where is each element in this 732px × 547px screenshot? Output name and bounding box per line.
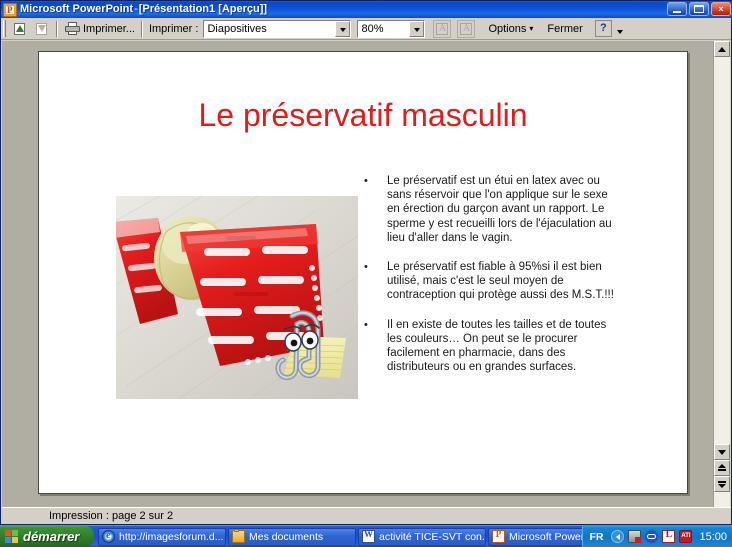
bullet-item: • Le préservatif est un étui en latex av… — [361, 174, 621, 245]
print-mode-combobox[interactable]: Diapositives — [203, 20, 351, 38]
previous-page-icon — [12, 21, 28, 37]
help-button[interactable] — [592, 19, 615, 39]
toolbar-separator-1 — [56, 21, 58, 37]
previous-page-scroll-button[interactable] — [714, 460, 730, 476]
status-bar: Impression : page 2 sur 2 — [2, 507, 731, 523]
window-controls: × — [667, 2, 731, 16]
double-chevron-down-icon — [718, 484, 726, 488]
status-text: Impression : page 2 sur 2 — [49, 510, 173, 522]
bullet-text: Il en existe de toutes les tailles et de… — [387, 318, 621, 375]
help-icon — [595, 20, 612, 37]
zoom-combobox[interactable]: 80% — [357, 20, 425, 38]
lavasoft-icon[interactable] — [662, 530, 675, 543]
bullet-marker: • — [361, 174, 387, 245]
minimize-button[interactable] — [667, 2, 687, 16]
taskbar-item-label: Microsoft PowerPoint ... — [509, 531, 582, 543]
zoom-in-button[interactable]: A — [430, 19, 454, 39]
close-preview-button[interactable]: Fermer — [542, 19, 585, 39]
word-document-icon — [362, 530, 375, 543]
bullet-item: • Le préservatif est fiable à 95%si il e… — [361, 260, 621, 303]
powerpoint-window: Microsoft PowerPoint - [Présentation1 [A… — [0, 0, 732, 525]
clock[interactable]: 15:00 — [699, 531, 727, 543]
vertical-scrollbar[interactable] — [713, 41, 730, 508]
chevron-down-icon[interactable] — [409, 21, 424, 37]
double-chevron-up-icon — [718, 464, 726, 468]
usb-device-icon[interactable] — [645, 530, 658, 543]
taskbar-item-label: activité TICE-SVT con... — [379, 531, 486, 543]
scroll-up-button[interactable] — [714, 41, 730, 57]
zoom-in-letter: A — [434, 22, 450, 36]
condom-photo-graphic — [116, 196, 358, 399]
print-mode-value: Diapositives — [204, 21, 335, 37]
start-button[interactable]: démarrer — [0, 526, 94, 547]
bullet-marker: • — [361, 318, 387, 375]
start-button-label: démarrer — [23, 529, 79, 544]
zoom-out-icon: A — [457, 20, 475, 38]
folder-icon — [232, 530, 245, 543]
window-app-title: Microsoft PowerPoint — [20, 1, 133, 18]
system-tray: FR 15:00 — [582, 526, 732, 547]
print-button[interactable]: Imprimer... — [61, 19, 138, 39]
zoom-in-icon: A — [433, 20, 451, 38]
zoom-out-button[interactable]: A — [454, 19, 478, 39]
next-page-scroll-button[interactable] — [714, 476, 730, 492]
bullet-marker: • — [361, 260, 387, 303]
slide-canvas[interactable]: Le préservatif masculin — [38, 51, 688, 494]
powerpoint-icon — [492, 530, 505, 543]
close-preview-label: Fermer — [547, 23, 582, 35]
options-menu-label: Options — [488, 23, 526, 35]
chevron-down-icon — [718, 450, 726, 455]
bullet-text: Le préservatif est un étui en latex avec… — [387, 174, 621, 245]
taskbar-item-mes-documents[interactable]: Mes documents — [228, 528, 356, 546]
print-mode-label: Imprimer : — [146, 19, 202, 39]
language-indicator[interactable]: FR — [589, 531, 603, 543]
zoom-out-letter: A — [458, 22, 474, 36]
internet-explorer-icon — [102, 530, 115, 543]
printer-icon — [64, 21, 81, 36]
scroll-down-button[interactable] — [714, 444, 730, 460]
slide-title: Le préservatif masculin — [39, 97, 687, 134]
taskbar-item-internet-explorer[interactable]: http://imagesforum.d... — [98, 528, 226, 546]
close-button[interactable]: × — [711, 2, 731, 16]
show-hidden-icons-chevron-icon[interactable] — [611, 530, 624, 543]
windows-flag-icon — [4, 529, 19, 544]
toolbar-overflow-icon[interactable] — [615, 20, 625, 38]
options-menu-button[interactable]: Options ▾ — [483, 19, 536, 39]
window-document-title: [Présentation1 [Aperçu]] — [139, 1, 267, 18]
chevron-up-icon — [718, 47, 726, 52]
print-preview-area[interactable]: Le préservatif masculin — [2, 41, 715, 508]
slide-body-text: • Le préservatif est un étui en latex av… — [361, 174, 621, 389]
windows-taskbar: démarrer http://imagesforum.d... Mes doc… — [0, 525, 732, 547]
toolbar-grip[interactable] — [3, 20, 6, 37]
ati-catalyst-icon[interactable] — [679, 530, 692, 543]
title-bar[interactable]: Microsoft PowerPoint - [Présentation1 [A… — [1, 1, 732, 18]
next-page-icon — [34, 21, 50, 37]
print-button-label: Imprimer... — [83, 23, 135, 35]
condom-photo — [116, 196, 358, 399]
restore-button[interactable] — [689, 2, 709, 16]
taskbar-item-label: http://imagesforum.d... — [119, 531, 223, 543]
zoom-value: 80% — [358, 21, 409, 37]
bullet-text: Le préservatif est fiable à 95%si il est… — [387, 260, 621, 303]
chevron-down-icon[interactable] — [335, 21, 350, 37]
network-disconnected-icon[interactable] — [628, 530, 641, 543]
taskbar-item-word-document[interactable]: activité TICE-SVT con... — [358, 528, 486, 546]
next-page-button[interactable] — [31, 19, 53, 39]
bullet-item: • Il en existe de toutes les tailles et … — [361, 318, 621, 375]
toolbar-separator-2 — [141, 21, 143, 37]
previous-page-button[interactable] — [9, 19, 31, 39]
chevron-down-icon: ▾ — [529, 24, 533, 33]
taskbar-item-label: Mes documents — [249, 531, 323, 543]
title-separator: - — [134, 1, 138, 18]
powerpoint-icon[interactable] — [3, 3, 17, 17]
taskbar-buttons: http://imagesforum.d... Mes documents ac… — [94, 526, 582, 547]
taskbar-item-powerpoint[interactable]: Microsoft PowerPoint ... — [488, 528, 582, 546]
print-preview-toolbar: Imprimer... Imprimer : Diapositives 80% … — [1, 18, 731, 40]
